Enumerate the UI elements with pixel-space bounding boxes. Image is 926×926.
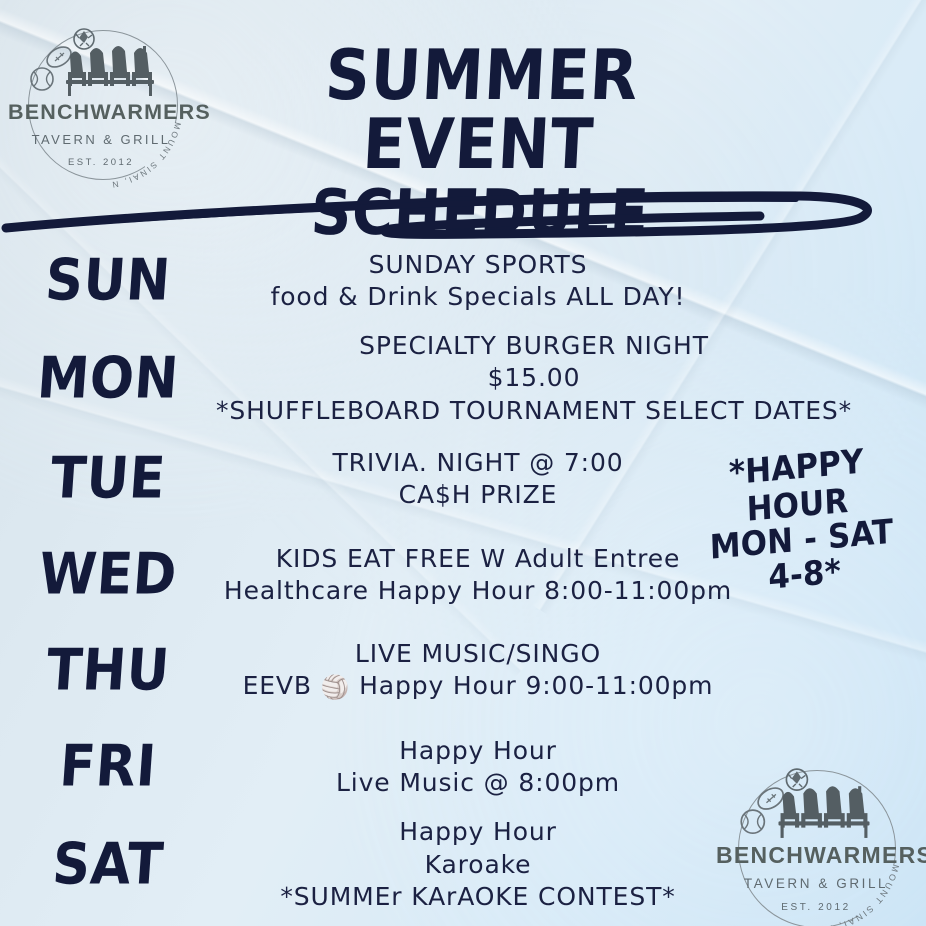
brand-logo-bottom-right: BENCHWARMERS TAVERN & GRILL EST. 2012 MO… [716,766,916,926]
events-sat: Happy Hour Karoake *SUMMEr KArAOKE CONTE… [216,816,760,914]
event-line: LIVE MUSIC/SINGO [216,638,740,671]
events-tue: TRIVIA. NIGHT @ 7:00 CA$H PRIZE [216,447,760,512]
event-line: $15.00 [216,362,852,395]
schedule-row-sun: SUN SUNDAY SPORTS food & Drink Specials … [0,236,760,326]
day-label-fri: FRI [0,738,218,795]
event-line: SUNDAY SPORTS [216,249,740,282]
event-line: Happy Hour [216,816,740,849]
logo-location-curved-text: MOUNT SINAI, NY [8,26,194,184]
svg-text:MOUNT SINAI, NY: MOUNT SINAI, NY [712,758,901,926]
title-line-1: SUMMER EVENT [196,41,763,180]
event-line: Happy Hour [216,735,740,768]
day-label-thu: THU [0,642,218,699]
event-line: *SUMMEr KArAOKE CONTEST* [216,881,740,914]
event-line: Karoake [216,849,740,882]
happy-hour-callout: *HAPPY HOUR MON - SAT 4-8* [684,443,915,603]
event-line: Healthcare Happy Hour 8:00-11:00pm [216,575,740,608]
event-line: *SHUFFLEBOARD TOURNAMENT SELECT DATES* [216,395,852,428]
events-mon: SPECIALTY BURGER NIGHT $15.00 *SHUFFLEBO… [216,330,872,428]
event-line: CA$H PRIZE [216,479,740,512]
summer-event-schedule-poster: BENCHWARMERS TAVERN & GRILL EST. 2012 MO… [0,0,926,926]
event-line: SPECIALTY BURGER NIGHT [216,330,852,363]
schedule-list: SUN SUNDAY SPORTS food & Drink Specials … [0,236,760,915]
event-line: food & Drink Specials ALL DAY! [216,281,740,314]
event-line: KIDS EAT FREE W Adult Entree [216,543,740,576]
day-label-sat: SAT [0,836,218,893]
day-label-mon: MON [0,350,218,407]
event-line: TRIVIA. NIGHT @ 7:00 [216,447,740,480]
volleyball-icon: 🏐 [321,675,351,701]
schedule-row-fri: FRI Happy Hour Live Music @ 8:00pm [0,719,760,815]
events-wed: KIDS EAT FREE W Adult Entree Healthcare … [216,543,760,608]
day-label-wed: WED [0,546,218,603]
day-label-sun: SUN [0,252,218,309]
svg-text:MOUNT SINAI, NY: MOUNT SINAI, NY [4,18,183,190]
event-line: Live Music @ 8:00pm [216,767,740,800]
schedule-row-tue: TUE TRIVIA. NIGHT @ 7:00 CA$H PRIZE [0,431,760,527]
schedule-row-wed: WED KIDS EAT FREE W Adult Entree Healthc… [0,527,760,623]
schedule-row-mon: MON SPECIALTY BURGER NIGHT $15.00 *SHUFF… [0,326,760,431]
brand-logo-top-left: BENCHWARMERS TAVERN & GRILL EST. 2012 MO… [8,26,194,184]
day-label-tue: TUE [0,450,218,507]
events-thu: LIVE MUSIC/SINGO EEVB 🏐 Happy Hour 9:00-… [216,638,760,704]
events-sun: SUNDAY SPORTS food & Drink Specials ALL … [216,249,760,314]
logo-location-curved-text: MOUNT SINAI, NY [716,766,916,926]
schedule-row-thu: THU LIVE MUSIC/SINGO EEVB 🏐 Happy Hour 9… [0,623,760,719]
event-line-with-volleyball-icon: EEVB 🏐 Happy Hour 9:00-11:00pm [216,670,740,704]
schedule-row-sat: SAT Happy Hour Karoake *SUMMEr KArAOKE C… [0,815,760,915]
events-fri: Happy Hour Live Music @ 8:00pm [216,735,760,800]
